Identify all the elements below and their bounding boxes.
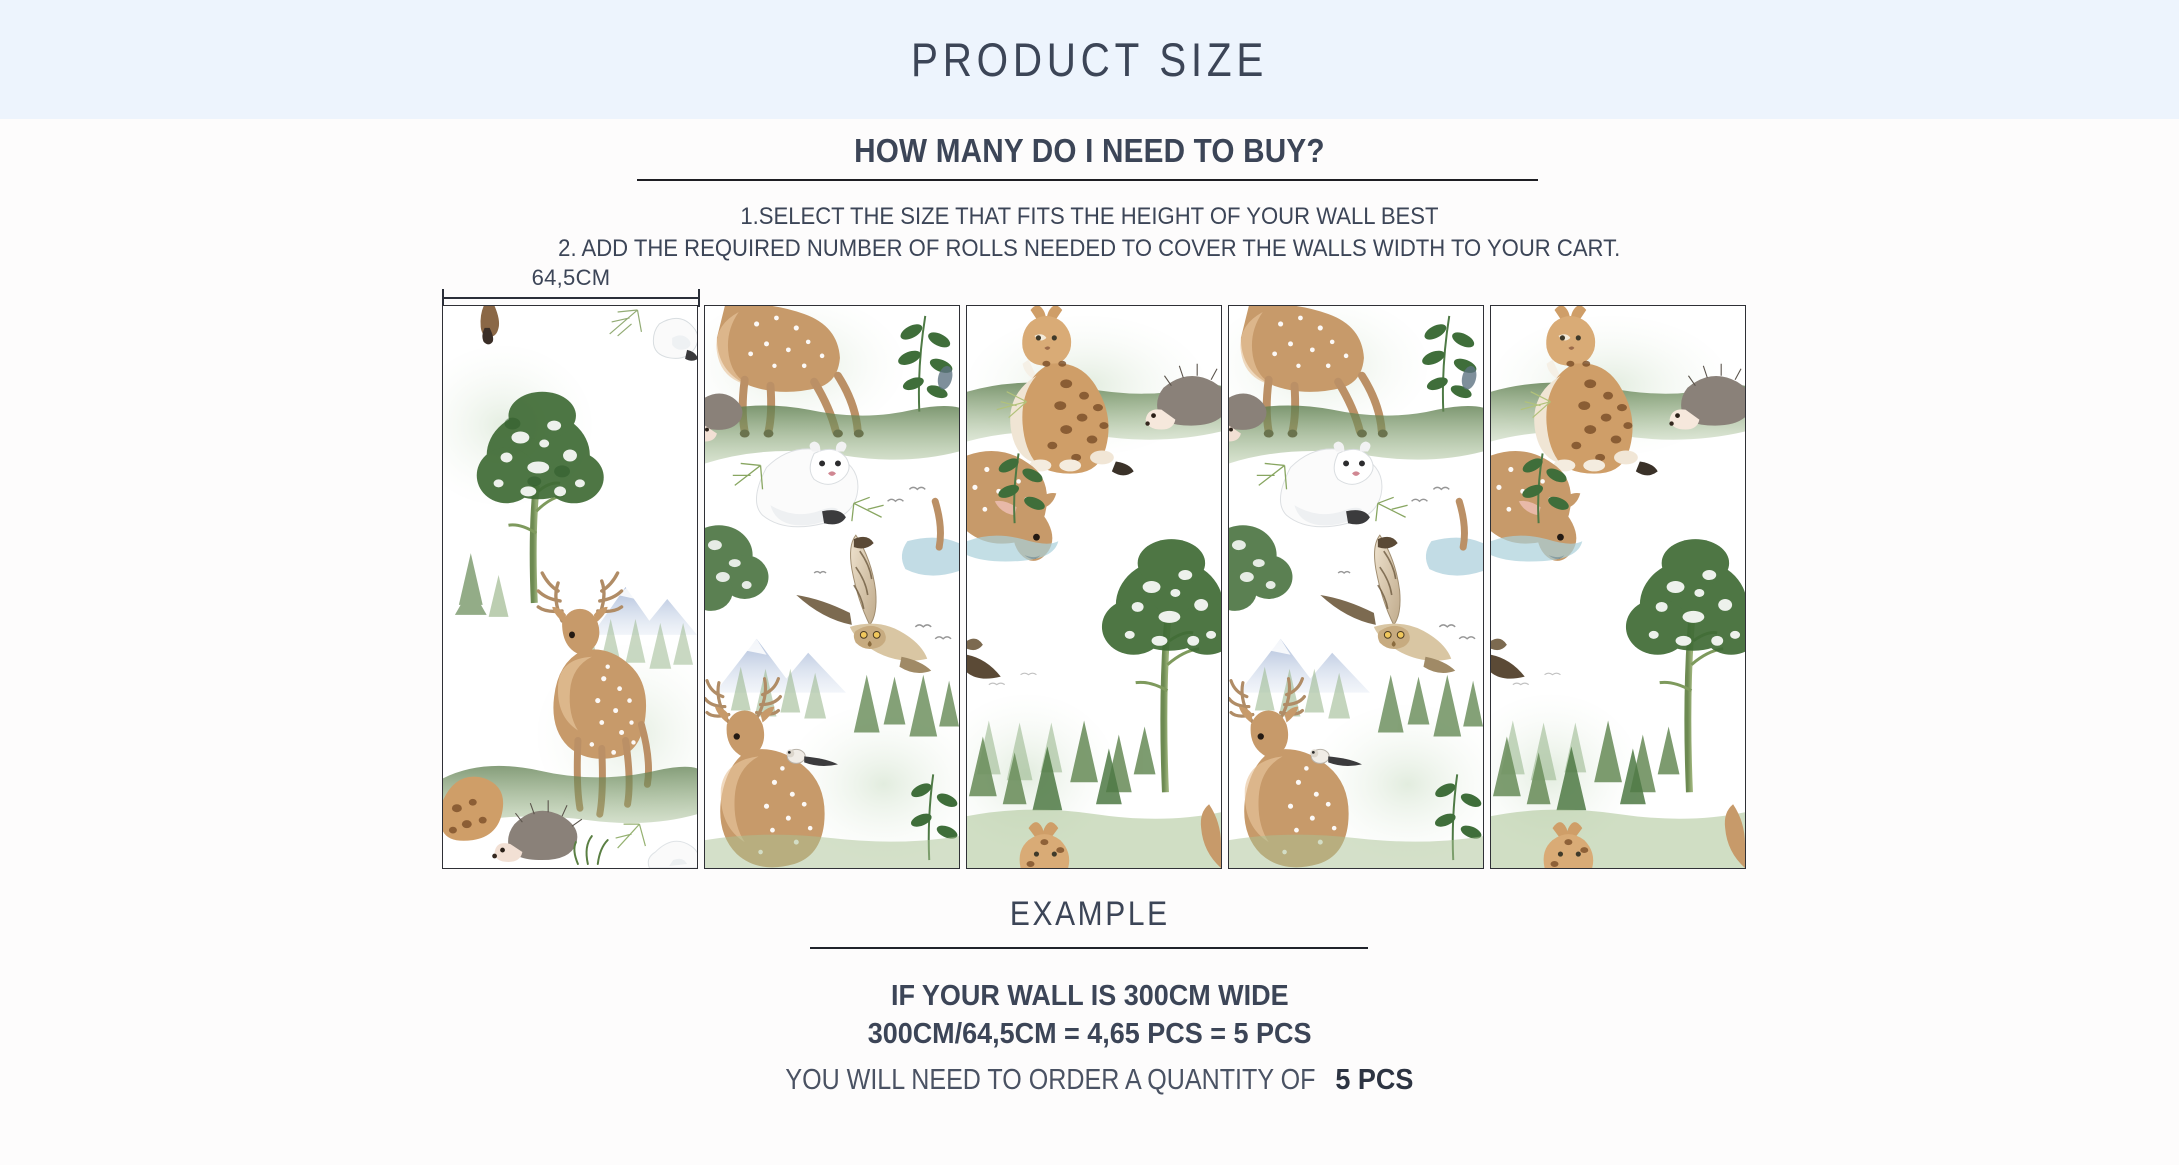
woodland-pattern-illustration	[967, 306, 1221, 868]
example-line-2: 300CM/64,5CM = 4,65 PCS = 5 PCS	[0, 1018, 2179, 1051]
dimension-label: 64,5CM	[442, 265, 700, 291]
wallpaper-panel-1[interactable]	[442, 305, 698, 869]
example-line-1: IF YOUR WALL IS 300CM WIDE	[0, 980, 2179, 1013]
instruction-line-1: 1.SELECT THE SIZE THAT FITS THE HEIGHT O…	[0, 203, 2179, 231]
wallpaper-panel-5[interactable]	[1490, 305, 1746, 869]
example-line-3-prefix: YOU WILL NEED TO ORDER A QUANTITY OF	[785, 1064, 1315, 1097]
heading-divider	[637, 179, 1538, 181]
example-line-2-text: 300CM/64,5CM = 4,65 PCS = 5 PCS	[868, 1018, 1312, 1051]
wallpaper-roll-strip	[442, 305, 1734, 869]
example-line-3-wrap: YOU WILL NEED TO ORDER A QUANTITY OF 5 P…	[766, 1064, 1414, 1097]
instruction-2-text: 2. ADD THE REQUIRED NUMBER OF ROLLS NEED…	[558, 235, 1620, 263]
woodland-pattern-illustration	[705, 306, 959, 868]
section-heading: HOW MANY DO I NEED TO BUY?	[0, 132, 2179, 170]
wallpaper-panel-3[interactable]	[966, 305, 1222, 869]
section-heading-text: HOW MANY DO I NEED TO BUY?	[854, 132, 1325, 170]
example-line-1-text: IF YOUR WALL IS 300CM WIDE	[891, 980, 1289, 1013]
woodland-pattern-illustration	[1229, 306, 1483, 868]
example-heading-text: EXAMPLE	[1010, 895, 1170, 934]
page-header-band: PRODUCT SIZE	[0, 0, 2179, 119]
instruction-1-text: 1.SELECT THE SIZE THAT FITS THE HEIGHT O…	[740, 203, 1438, 231]
wallpaper-panel-4[interactable]	[1228, 305, 1484, 869]
example-divider	[810, 947, 1368, 949]
example-heading: EXAMPLE	[0, 895, 2179, 934]
woodland-pattern-illustration	[443, 306, 697, 868]
woodland-pattern-illustration	[1491, 306, 1745, 868]
roll-width-dimension: 64,5CM	[442, 265, 700, 305]
dimension-line	[442, 297, 700, 299]
example-line-3: YOU WILL NEED TO ORDER A QUANTITY OF 5 P…	[0, 1064, 2179, 1097]
example-quantity-value: 5 PCS	[1336, 1064, 1414, 1096]
instruction-line-2: 2. ADD THE REQUIRED NUMBER OF ROLLS NEED…	[0, 235, 2179, 263]
page-title: PRODUCT SIZE	[911, 32, 1268, 87]
wallpaper-panel-2[interactable]	[704, 305, 960, 869]
